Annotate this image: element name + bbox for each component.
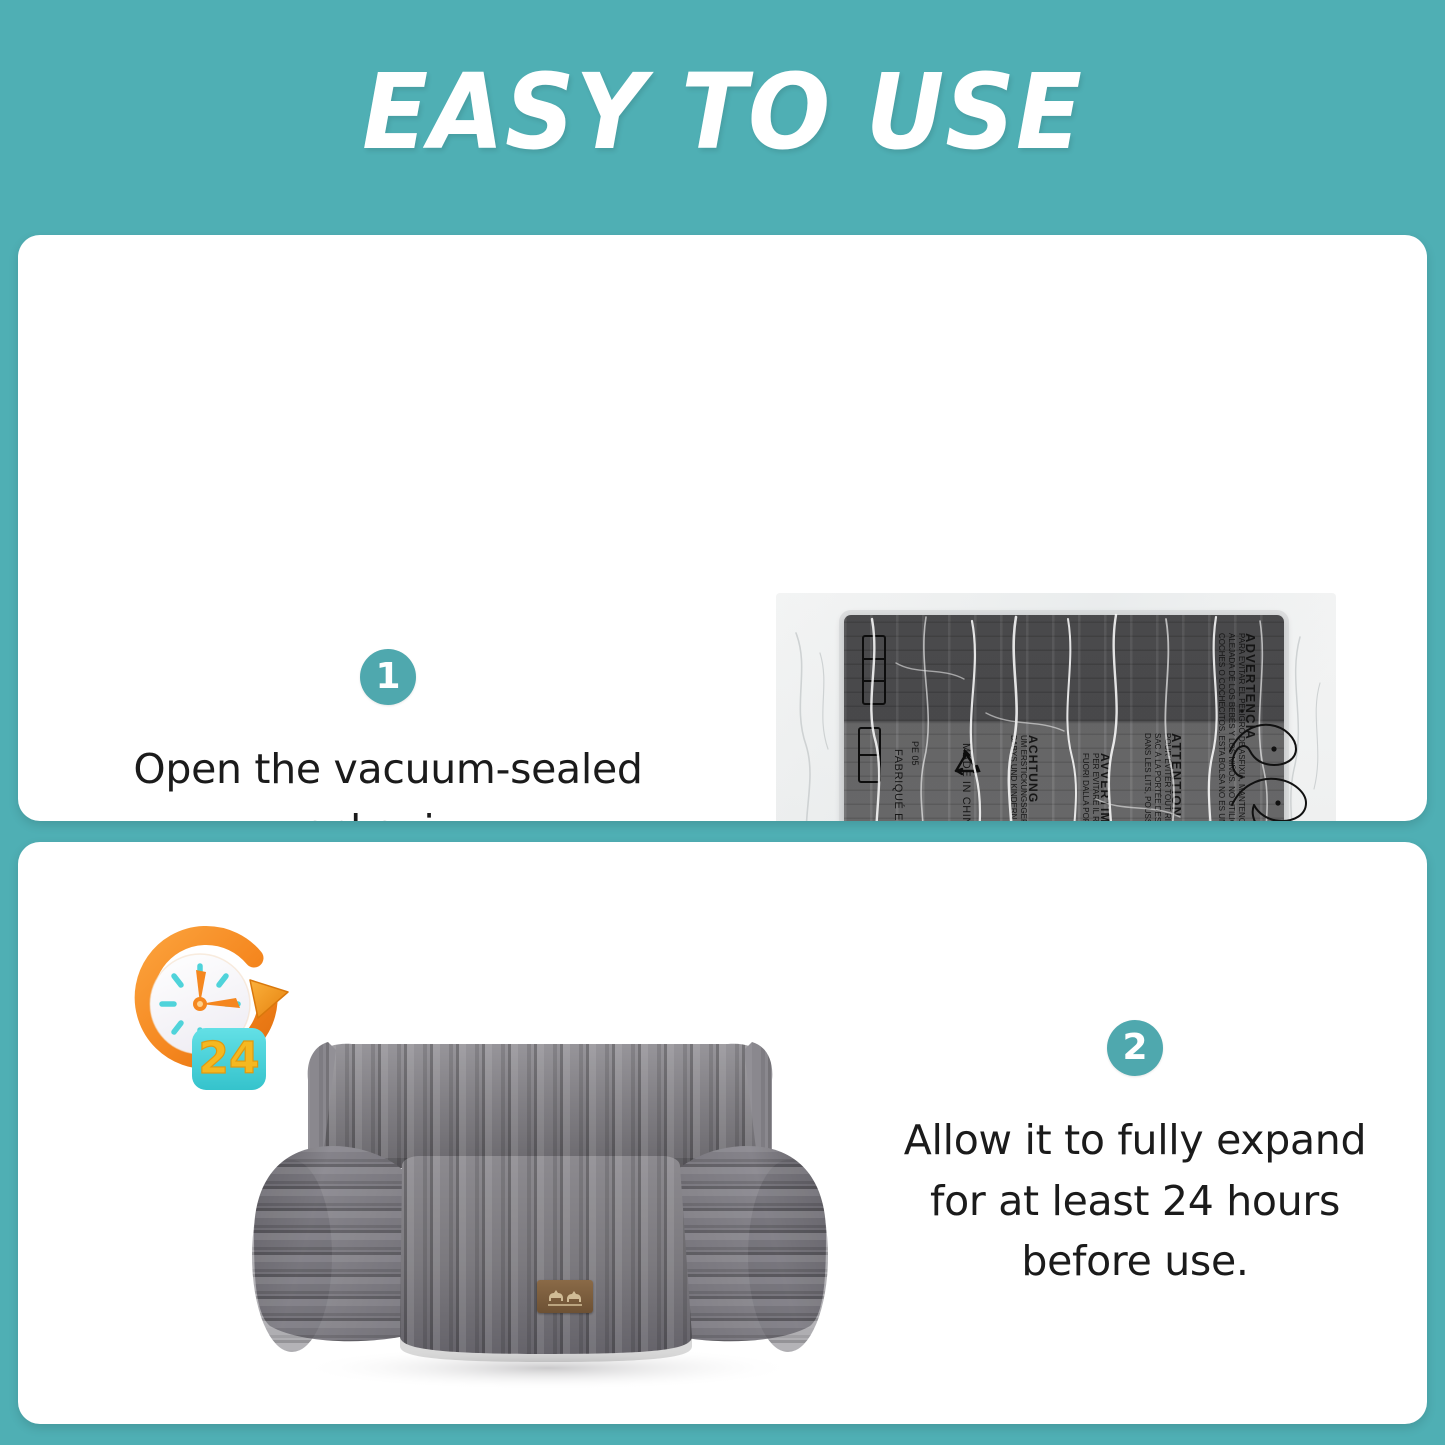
step-2-line-2: for at least 24 hours: [875, 1171, 1395, 1232]
step-1-description: Open the vacuum-sealed packaging, no ass…: [78, 739, 698, 821]
step-1-card: ADVERTENCIA PARA EVITAR EL PELIGRO DE AS…: [18, 235, 1427, 821]
step-2-description: Allow it to fully expand for at least 24…: [875, 1110, 1395, 1292]
step-1-badge: 1: [360, 649, 416, 705]
label-avvertimento-body-2: FUORI DALLA PORTATA DI BAMBINI. NON USAR…: [1081, 753, 1090, 821]
step-1-line-2: packaging,: [78, 800, 698, 821]
step-2-line-1: Allow it to fully expand: [875, 1110, 1395, 1171]
page-title: EASY TO USE: [51, 58, 1395, 167]
infographic-page: EASY TO USE ADVERTENCIA PARA EVITAR EL P…: [0, 0, 1445, 1445]
step-2-text-block: 2 Allow it to fully expand for at least …: [875, 1020, 1395, 1292]
header-banner: EASY TO USE: [0, 0, 1445, 232]
step-1-text-block: 1 Open the vacuum-sealed packaging, no a…: [78, 649, 698, 821]
label-fabrique-en-chine: FABRIQUÉ EN CHINE: [892, 749, 904, 821]
label-achtung: ACHTUNG: [1026, 735, 1040, 803]
bed-backrest: [308, 1042, 773, 1170]
bed-seat-cushion: [400, 1156, 692, 1362]
vacuum-sealed-package-photo: ADVERTENCIA PARA EVITAR EL PELIGRO DE AS…: [776, 593, 1336, 821]
dog-silhouette-logo: [542, 1284, 588, 1310]
mobius-loop-icon: [948, 745, 988, 785]
label-achtung-body-2: BABYS UND KINDERN FERNHALTEN. KEIN SPIEL…: [1009, 735, 1018, 821]
step-2-badge: 2: [1107, 1020, 1163, 1076]
grey-ribbed-pet-sofa-bed: [248, 988, 832, 1390]
label-avvertimento: AVVERTIMENTO: [1098, 753, 1112, 821]
wash-care-box-icon: [858, 727, 881, 783]
label-avvertimento-body-1: PER EVITARE IL RISCHIO DI SOFFOCAMENTO, …: [1091, 753, 1100, 821]
label-attention-body-1: POUR ÉVITER TOUT RISQUE DE SUFFOCATION, …: [1163, 733, 1172, 821]
care-instruction-box-icon: [862, 635, 886, 705]
step-2-line-3: before use.: [875, 1231, 1395, 1292]
label-attention-body-2: SAC À LA PORTÉE DES BÉBÉS ET DES ENFANTS…: [1153, 733, 1162, 821]
label-material-code: PE 05: [910, 741, 920, 766]
leather-brand-tag: [537, 1280, 593, 1313]
step-1-line-1: Open the vacuum-sealed: [78, 739, 698, 800]
label-attention-body-3: DANS LES LITS, POUSSETTES. CE SAC N'EST …: [1143, 733, 1152, 821]
suffocation-warning-pictograms: [1212, 689, 1330, 821]
label-achtung-body-1: UM ERSTICKUNGSGEFAHR ZU VERMEIDEN, DIESE…: [1019, 735, 1028, 821]
